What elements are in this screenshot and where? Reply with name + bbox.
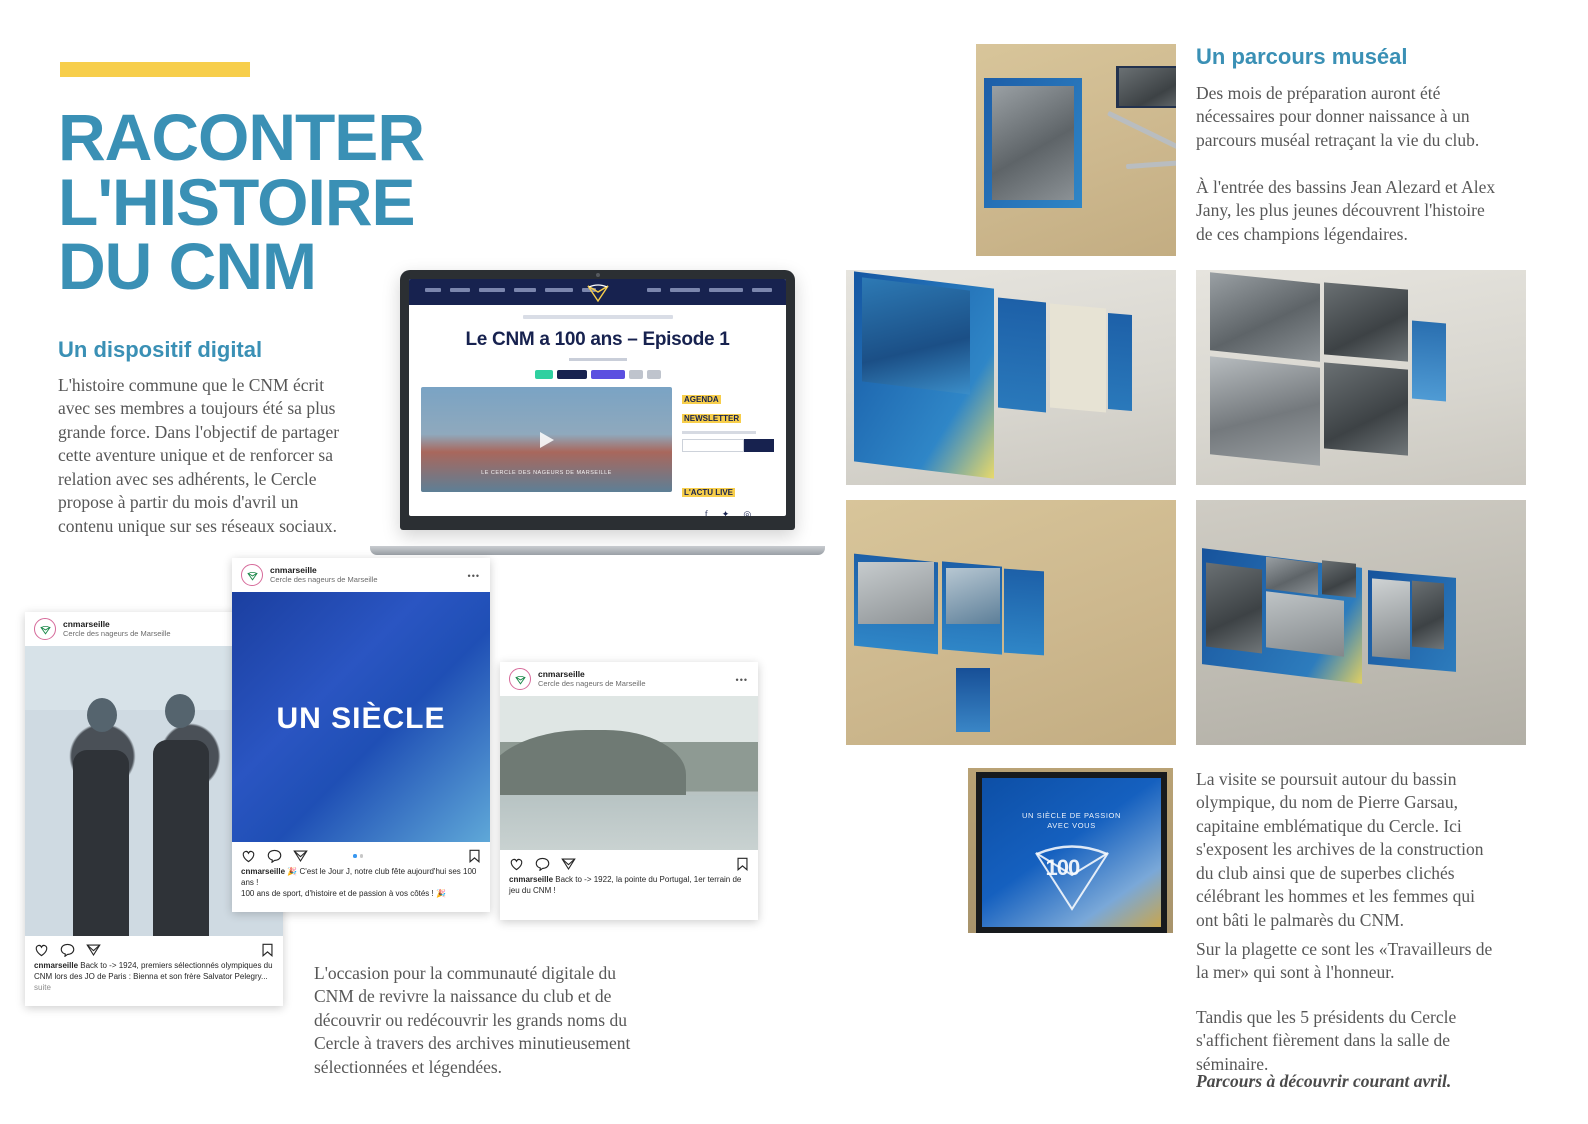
comment-icon[interactable] (535, 857, 550, 871)
post-image-text: UN SIÈCLE (232, 702, 490, 736)
post-header: cnmarseille Cercle des nageurs de Marsei… (232, 558, 490, 592)
section-heading-museal: Un parcours muséal (1196, 44, 1408, 70)
newsletter-form[interactable] (682, 439, 774, 452)
paragraph-museal-1: Des mois de préparation auront été néces… (1196, 82, 1496, 152)
paragraph-visite-2: Sur la plagette ce sont les «Travailleur… (1196, 938, 1496, 985)
paragraph-digital: L'histoire commune que le CNM écrit avec… (58, 374, 358, 538)
instagram-post-un-siecle[interactable]: cnmarseille Cercle des nageurs de Marsei… (232, 558, 490, 912)
laptop-screen: Le CNM a 100 ans – Episode 1 LE CERCLE D… (409, 279, 786, 516)
paragraph-occasion: L'occasion pour la communauté digitale d… (314, 962, 644, 1079)
footnote: Parcours à découvrir courant avril. (1196, 1070, 1516, 1093)
comment-icon[interactable] (60, 943, 75, 957)
nav-links-right[interactable] (647, 288, 772, 292)
post-actions[interactable] (232, 842, 490, 866)
site-navbar[interactable] (409, 279, 786, 305)
post-actions[interactable] (25, 936, 283, 960)
photo-stairs (976, 44, 1176, 256)
bookmark-icon[interactable] (261, 943, 274, 957)
carousel-indicator (353, 854, 363, 858)
article-date (569, 358, 627, 361)
laptop-base (370, 546, 825, 555)
section-heading-digital: Un dispositif digital (58, 337, 262, 363)
post-header: cnmarseille Cercle des nageurs de Marsei… (500, 662, 758, 696)
avatar[interactable] (509, 668, 531, 690)
more-options-icon[interactable]: ••• (468, 571, 480, 581)
bookmark-icon[interactable] (468, 849, 481, 863)
banner-text: UN SIÈCLE DE PASSIONAVEC VOUS (982, 811, 1161, 832)
banner-graphic: UN SIÈCLE DE PASSIONAVEC VOUS 100 (982, 778, 1161, 927)
bookmark-icon[interactable] (736, 857, 749, 871)
brochure-page: RACONTER L'HISTOIRE DU CNM Un dispositif… (0, 0, 1588, 1124)
article-title: Le CNM a 100 ans – Episode 1 (409, 329, 786, 351)
banner-logo-number: 100 (1046, 855, 1080, 881)
like-icon[interactable] (241, 849, 256, 863)
more-options-icon[interactable]: ••• (736, 675, 748, 685)
account-names: cnmarseille Cercle des nageurs de Marsei… (63, 620, 171, 638)
caption-more-link[interactable]: suite (34, 983, 51, 992)
sidebar-text-line (682, 431, 756, 434)
social-links[interactable]: f ✦ ◎ (682, 509, 774, 516)
photo-rocks (1196, 500, 1526, 745)
avatar[interactable] (241, 564, 263, 586)
twitter-icon[interactable]: ✦ (722, 509, 730, 516)
video-header (427, 391, 666, 398)
photo-pointe-du-portugal (500, 696, 758, 850)
sidebar-newsletter-label[interactable]: NEWSLETTER (682, 414, 741, 423)
caption-username[interactable]: cnmarseille (34, 961, 78, 970)
avatar[interactable] (34, 618, 56, 640)
sidebar-agenda-label[interactable]: AGENDA (682, 395, 721, 404)
breadcrumb (523, 315, 673, 319)
site-sidebar: AGENDA NEWSLETTER L'ACTU LIVE f ✦ ◎ (682, 387, 774, 516)
post-caption: cnmarseille 🎉 C'est le Jour J, notre clu… (232, 866, 490, 907)
paragraph-museal-2: À l'entrée des bassins Jean Alezard et A… (1196, 176, 1496, 246)
comment-icon[interactable] (267, 849, 282, 863)
facebook-icon[interactable]: f (705, 509, 708, 516)
nav-links-left[interactable] (425, 288, 596, 292)
account-subtitle: Cercle des nageurs de Marseille (270, 576, 378, 585)
share-icon[interactable] (86, 943, 101, 957)
photo-pool (846, 270, 1176, 485)
instagram-icon[interactable]: ◎ (743, 509, 751, 516)
account-subtitle: Cercle des nageurs de Marseille (538, 680, 646, 689)
post-actions[interactable] (500, 850, 758, 874)
share-icon[interactable] (293, 849, 308, 863)
post-caption: cnmarseille Back to -> 1922, la pointe d… (500, 874, 758, 905)
account-names: cnmarseille Cercle des nageurs de Marsei… (270, 566, 378, 584)
like-icon[interactable] (509, 857, 524, 871)
instagram-post-1922[interactable]: cnmarseille Cercle des nageurs de Marsei… (500, 662, 758, 920)
video-caption: LE CERCLE DES NAGEURS DE MARSEILLE (421, 470, 672, 476)
like-icon[interactable] (34, 943, 49, 957)
laptop-body: Le CNM a 100 ans – Episode 1 LE CERCLE D… (400, 270, 795, 530)
account-subtitle: Cercle des nageurs de Marseille (63, 630, 171, 639)
email-field[interactable] (682, 439, 744, 452)
play-icon[interactable] (540, 432, 554, 448)
caption-username[interactable]: cnmarseille (509, 875, 553, 884)
account-names: cnmarseille Cercle des nageurs de Marsei… (538, 670, 646, 688)
paragraph-visite-1: La visite se poursuit autour du bassin o… (1196, 768, 1496, 932)
webcam-icon (596, 273, 600, 277)
subscribe-button[interactable] (744, 439, 774, 452)
share-icon[interactable] (561, 857, 576, 871)
laptop-mockup: Le CNM a 100 ans – Episode 1 LE CERCLE D… (370, 270, 825, 555)
caption-username[interactable]: cnmarseille (241, 867, 285, 876)
article-body: LE CERCLE DES NAGEURS DE MARSEILLE AGEND… (409, 379, 786, 516)
photo-un-siecle: UN SIÈCLE (232, 592, 490, 842)
article-tags[interactable] (409, 370, 786, 379)
photo-banner: UN SIÈCLE DE PASSIONAVEC VOUS 100 (968, 768, 1173, 933)
video-player[interactable]: LE CERCLE DES NAGEURS DE MARSEILLE (421, 387, 672, 492)
sidebar-actu-label[interactable]: L'ACTU LIVE (682, 488, 735, 497)
photo-divers (1196, 270, 1526, 485)
post-caption: cnmarseille Back to -> 1924, premiers sé… (25, 960, 283, 1001)
photo-port (846, 500, 1176, 745)
cnm-logo-icon (585, 281, 611, 303)
accent-bar (60, 62, 250, 77)
post-image (500, 696, 758, 850)
post-image: UN SIÈCLE (232, 592, 490, 842)
paragraph-visite-3: Tandis que les 5 présidents du Cercle s'… (1196, 1006, 1496, 1076)
